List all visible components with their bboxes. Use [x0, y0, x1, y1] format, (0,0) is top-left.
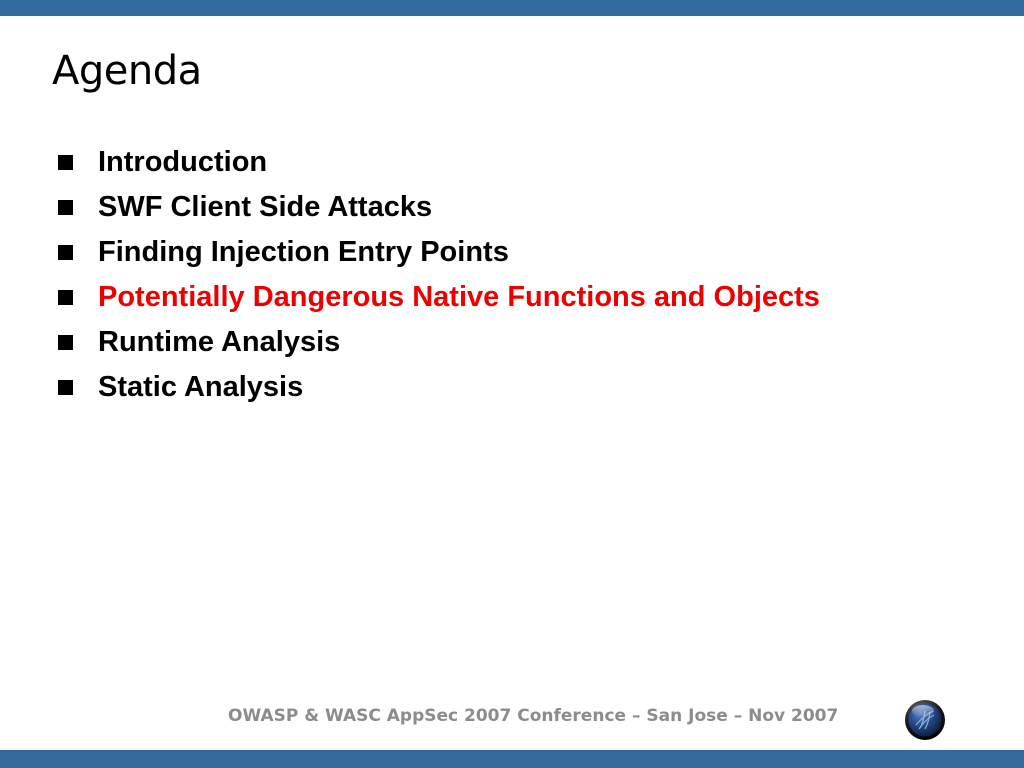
- square-bullet-icon: [58, 335, 73, 350]
- owasp-globe-icon: [903, 699, 947, 743]
- list-item-label: SWF Client Side Attacks: [98, 191, 432, 224]
- list-item-label-highlighted: Potentially Dangerous Native Functions a…: [98, 281, 820, 314]
- page-title: Agenda: [52, 48, 202, 94]
- list-item-label: Runtime Analysis: [98, 326, 340, 359]
- list-item: SWF Client Side Attacks: [58, 191, 988, 236]
- agenda-bullet-list: Introduction SWF Client Side Attacks Fin…: [58, 146, 988, 416]
- square-bullet-icon: [58, 245, 73, 260]
- top-accent-bar: [0, 0, 1024, 16]
- presentation-slide: Agenda Introduction SWF Client Side Atta…: [0, 0, 1024, 768]
- list-item: Introduction: [58, 146, 988, 191]
- list-item-label: Static Analysis: [98, 371, 303, 404]
- square-bullet-icon: [58, 380, 73, 395]
- square-bullet-icon: [58, 200, 73, 215]
- list-item-label: Introduction: [98, 146, 267, 179]
- square-bullet-icon: [58, 155, 73, 170]
- list-item: Static Analysis: [58, 371, 988, 416]
- bottom-accent-bar: [0, 750, 1024, 768]
- square-bullet-icon: [58, 290, 73, 305]
- list-item: Finding Injection Entry Points: [58, 236, 988, 281]
- list-item-label: Finding Injection Entry Points: [98, 236, 509, 269]
- list-item: Runtime Analysis: [58, 326, 988, 371]
- footer-text: OWASP & WASC AppSec 2007 Conference – Sa…: [228, 706, 838, 726]
- list-item: Potentially Dangerous Native Functions a…: [58, 281, 988, 326]
